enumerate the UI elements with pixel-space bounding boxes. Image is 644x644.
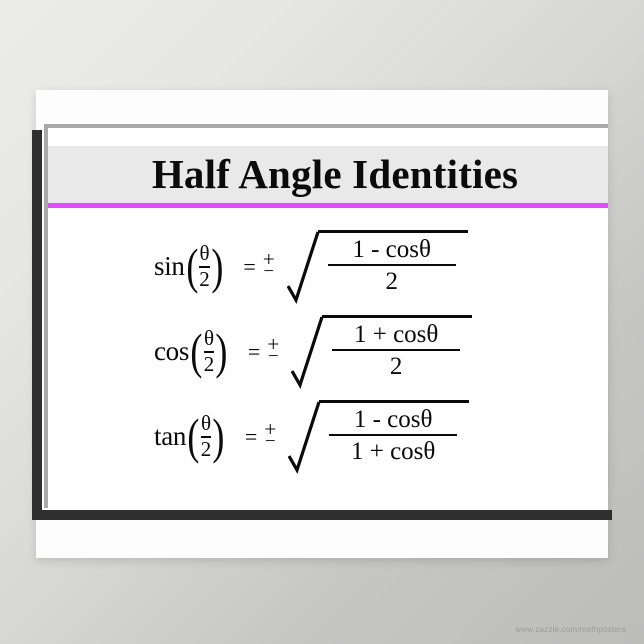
identity-row-tan: tan ( θ 2 ) = + −: [48, 394, 608, 479]
equals-sign: =: [243, 254, 255, 280]
poster-frame-bar-bottom: [32, 510, 612, 520]
radical-sign-icon: [287, 230, 321, 304]
function-name: sin: [154, 251, 185, 282]
equals-sign: =: [248, 339, 260, 365]
argument-denominator: 2: [199, 269, 210, 290]
poster-title-band: Half Angle Identities: [48, 146, 608, 203]
radicand-numerator: 1 - cosθ: [348, 236, 435, 263]
paren-close: ): [216, 332, 228, 371]
minus-glyph: −: [268, 351, 279, 363]
radical-expression: 1 - cosθ 2: [287, 230, 468, 304]
identity-lhs: sin ( θ 2 ): [154, 243, 225, 291]
radical-expression: 1 + cosθ 2: [291, 315, 472, 389]
argument-fraction: θ 2: [198, 243, 211, 291]
radicand-fraction: 1 + cosθ 2: [332, 321, 460, 380]
argument-numerator: θ: [204, 328, 214, 349]
minus-glyph: −: [263, 266, 274, 278]
paren-open: (: [187, 417, 199, 456]
paren-close: ): [213, 417, 225, 456]
paren-close: ): [211, 247, 223, 286]
paren-open: (: [190, 332, 202, 371]
poster-card: Half Angle Identities sin ( θ 2 ) =: [44, 124, 608, 508]
identity-list: sin ( θ 2 ) = + −: [48, 214, 608, 508]
fraction-bar: [329, 434, 457, 436]
radicand: 1 - cosθ 2: [318, 230, 468, 304]
paren-open: (: [186, 247, 198, 286]
radicand-denominator: 1 + cosθ: [351, 437, 435, 465]
radicand-numerator: 1 + cosθ: [350, 321, 442, 348]
plus-minus-sign: + −: [264, 423, 276, 450]
radicand-numerator: 1 - cosθ: [350, 406, 437, 433]
radicand: 1 - cosθ 1 + cosθ: [319, 400, 469, 474]
function-name: cos: [154, 336, 189, 367]
radical-expression: 1 - cosθ 1 + cosθ: [288, 400, 469, 474]
plus-minus-sign: + −: [263, 253, 275, 280]
argument-numerator: θ: [199, 243, 209, 264]
radical-sign-icon: [288, 400, 322, 474]
poster-credit-url: www.zazzle.com/mathposters: [515, 625, 626, 634]
radicand: 1 + cosθ 2: [322, 315, 472, 389]
argument-denominator: 2: [201, 439, 212, 460]
minus-glyph: −: [265, 436, 276, 448]
plus-minus-sign: + −: [267, 338, 279, 365]
argument-fraction: θ 2: [200, 413, 213, 461]
argument-fraction: θ 2: [203, 328, 216, 376]
radicand-fraction: 1 - cosθ 2: [328, 236, 456, 295]
identity-row-cos: cos ( θ 2 ) = + −: [48, 309, 608, 394]
page-title: Half Angle Identities: [138, 154, 518, 195]
radicand-denominator: 2: [390, 352, 403, 380]
poster-scene: Half Angle Identities sin ( θ 2 ) =: [0, 0, 644, 644]
radicand-denominator: 2: [385, 267, 398, 295]
argument-denominator: 2: [204, 354, 215, 375]
argument-numerator: θ: [201, 413, 211, 434]
identity-row-sin: sin ( θ 2 ) = + −: [48, 224, 608, 309]
equals-sign: =: [245, 424, 257, 450]
radicand-fraction: 1 - cosθ 1 + cosθ: [329, 406, 457, 465]
radical-sign-icon: [291, 315, 325, 389]
fraction-bar: [328, 264, 456, 266]
function-name: tan: [154, 421, 186, 452]
fraction-bar: [332, 349, 460, 351]
identity-lhs: tan ( θ 2 ): [154, 413, 227, 461]
identity-lhs: cos ( θ 2 ): [154, 328, 230, 376]
title-accent-rule: [48, 203, 608, 208]
poster-frame-bar-left: [32, 130, 42, 520]
